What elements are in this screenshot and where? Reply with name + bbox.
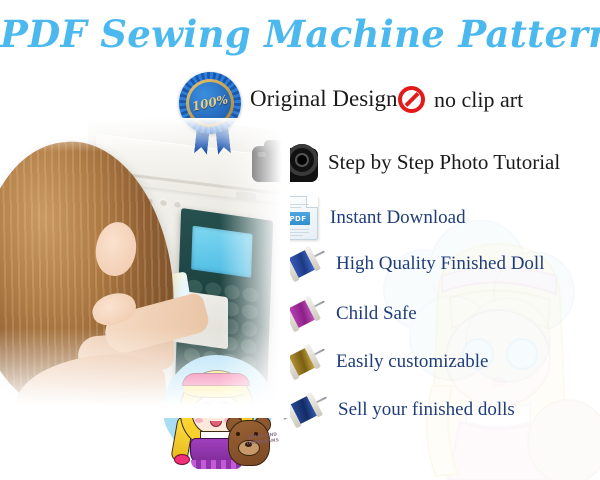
feature-label-photo-tutorial: Step by Step Photo Tutorial — [328, 150, 560, 175]
feature-label-no-clip-art: no clip art — [434, 87, 523, 113]
logo-watermark-text: DOLLS AND DAYDREAMS — [239, 432, 287, 455]
feature-label-sell-your-finished-dolls: Sell your finished dolls — [338, 399, 515, 421]
poster-title: PDF Sewing Machine Pattern — [0, 12, 600, 56]
feature-original-design: Original Design — [250, 86, 398, 112]
feature-child-safe: Child Safe — [284, 296, 417, 332]
feature-easily-customizable: Easily customizable — [284, 344, 488, 380]
girl-sewing-photo — [0, 118, 290, 418]
feature-high-quality-finished-doll: High Quality Finished Doll — [284, 246, 544, 282]
feature-sell-your-finished-dolls: Sell your finished dolls — [286, 392, 515, 428]
feature-instant-download: PDF Instant Download — [282, 196, 466, 240]
poster-canvas: PDF Sewing Machine Pattern — [0, 0, 600, 480]
feature-label-high-quality-finished-doll: High Quality Finished Doll — [336, 253, 544, 275]
feature-label-easily-customizable: Easily customizable — [336, 351, 488, 373]
feature-label-child-safe: Child Safe — [336, 303, 417, 325]
feature-label-instant-download: Instant Download — [330, 207, 466, 229]
prohibition-icon — [398, 86, 425, 113]
feature-label-original-design: Original Design — [250, 86, 398, 112]
feature-photo-tutorial: Step by Step Photo Tutorial — [252, 140, 560, 184]
feature-no-clip-art: no clip art — [398, 86, 523, 113]
